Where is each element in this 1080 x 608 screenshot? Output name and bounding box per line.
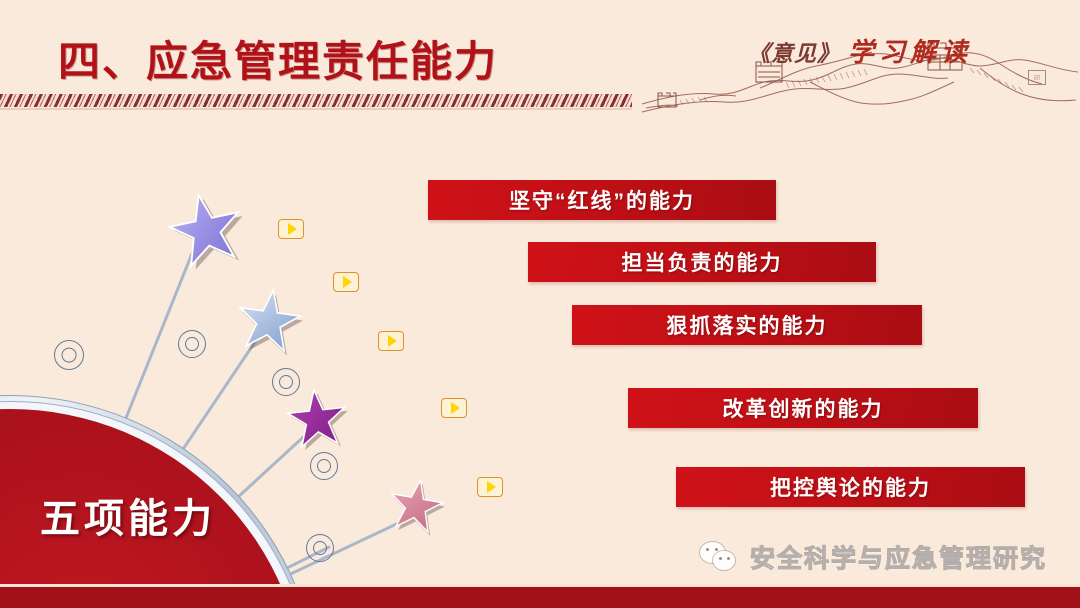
star-blue-icon <box>232 284 307 359</box>
play-icon-3 <box>378 331 404 351</box>
capability-bar-2[interactable]: 担当负责的能力 <box>528 242 876 282</box>
capability-bar-label: 担当负责的能力 <box>622 247 783 277</box>
slide-canvas: 四、应急管理责任能力 <box>0 0 1080 608</box>
capability-bar-label: 坚守“红线”的能力 <box>509 185 695 215</box>
capability-bar-1[interactable]: 坚守“红线”的能力 <box>428 180 776 220</box>
play-icon-4 <box>441 398 467 418</box>
capability-bar-4[interactable]: 改革创新的能力 <box>628 388 978 428</box>
watermark: 安全科学与应急管理研究 <box>700 536 1047 578</box>
capability-bar-label: 狠抓落实的能力 <box>667 310 828 340</box>
footer-bar <box>0 587 1080 608</box>
capability-bar-3[interactable]: 狠抓落实的能力 <box>572 305 922 345</box>
capability-bar-label: 改革创新的能力 <box>723 393 884 423</box>
ring-2-icon <box>178 330 206 358</box>
wechat-icon <box>700 542 740 572</box>
watermark-text: 安全科学与应急管理研究 <box>750 539 1047 575</box>
star-purple-large-icon <box>161 185 251 275</box>
play-icon-2 <box>333 272 359 292</box>
capability-bar-label: 把控舆论的能力 <box>770 472 931 502</box>
capability-bar-5[interactable]: 把控舆论的能力 <box>676 467 1025 507</box>
star-rose-icon <box>384 474 449 539</box>
play-icon-1 <box>278 219 304 239</box>
hub-label: 五项能力 <box>40 486 216 544</box>
ring-1-icon <box>54 340 84 370</box>
play-icon-5 <box>477 477 503 497</box>
